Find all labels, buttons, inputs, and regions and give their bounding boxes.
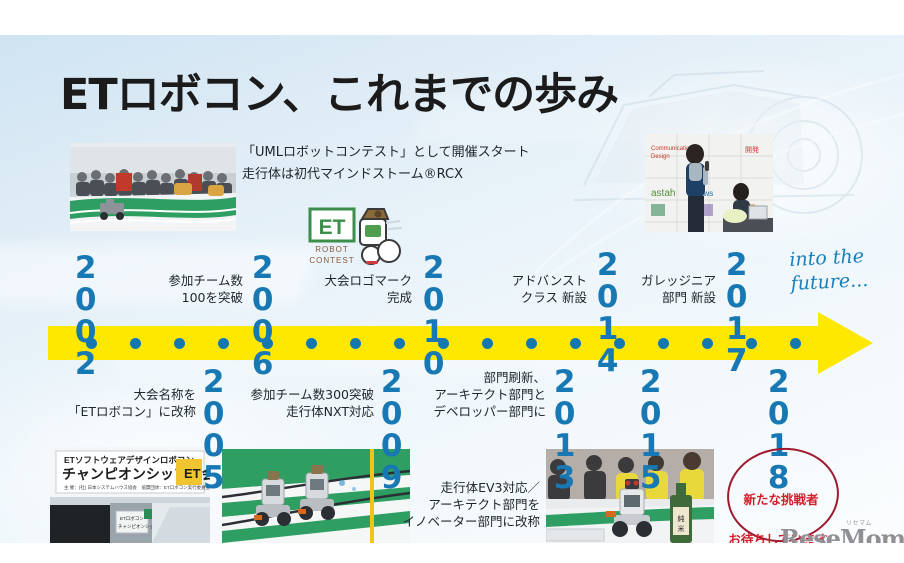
svg-text:開発: 開発 <box>745 145 759 154</box>
timeline-dot <box>306 338 317 349</box>
et-robot-contest-logo: ET ROBOT CONTEST <box>308 203 408 275</box>
svg-text:Design: Design <box>651 154 670 160</box>
photo-championship-sign: ETソフトウェアデザインロボコン チャンピオンシップ大会 主 催：(社) 日本シ… <box>50 447 210 543</box>
timeline-arrowhead <box>818 312 873 374</box>
year-label-2006: 2006 <box>249 250 276 378</box>
timeline-dot <box>218 338 229 349</box>
into-the-future-note: into the future... <box>789 244 869 296</box>
photo-2002-graphic <box>70 143 236 231</box>
year-label-2015: 2015 <box>637 364 664 492</box>
svg-text:astah: astah <box>651 188 675 199</box>
svg-text:純: 純 <box>678 514 685 523</box>
photo-championship-graphic: ETソフトウェアデザインロボコン チャンピオンシップ大会 主 催：(社) 日本シ… <box>50 447 210 543</box>
watermark-ruby: リセマム <box>846 518 872 527</box>
caption-2014: アドバンスト クラス 新設 <box>487 272 587 306</box>
year-label-2017: 2017 <box>723 247 750 375</box>
timeline-dot <box>350 338 361 349</box>
bottom-white-band <box>0 543 904 563</box>
year-label-2002: 2002 <box>72 250 99 378</box>
svg-text:CONTEST: CONTEST <box>309 256 354 265</box>
badge-line-1: 新たな挑戦者 <box>743 492 818 507</box>
photo-2017-presentation: Communication Design astah aws 開発 <box>645 134 773 232</box>
infographic-canvas: ETロボコン、これまでの歩み <box>0 0 904 563</box>
timeline-dot <box>130 338 141 349</box>
top-white-band <box>0 0 904 35</box>
svg-text:ETソフトウェアデザインロボコン: ETソフトウェアデザインロボコン <box>64 455 194 465</box>
timeline-dot <box>174 338 185 349</box>
timeline-dot <box>570 338 581 349</box>
timeline-dot <box>702 338 713 349</box>
year-label-2005: 2005 <box>200 364 227 492</box>
et-logo-graphic: ET ROBOT CONTEST <box>308 203 408 275</box>
timeline-dot <box>790 338 801 349</box>
caption-2005: 大会名称を 「ETロボコン」に改称 <box>60 386 196 420</box>
caption-2015: 走行体EV3対応／ アーキテクト部門を イノベーター部門に改称 <box>400 479 540 530</box>
timeline-dot <box>482 338 493 349</box>
intro-line-1: 「UMLロボットコンテスト」として開催スタート <box>242 143 542 163</box>
photo-2017-graphic: Communication Design astah aws 開発 <box>645 134 773 232</box>
caption-2006: 参加チーム数 100を突破 <box>128 272 243 306</box>
page-title: ETロボコン、これまでの歩み <box>60 60 618 122</box>
timeline-dot <box>526 338 537 349</box>
svg-text:ROBOT: ROBOT <box>315 245 348 254</box>
caption-2009: 参加チーム数300突破 走行体NXT対応 <box>232 386 374 420</box>
timeline-dot <box>658 338 669 349</box>
photo-2002-contest <box>70 143 236 231</box>
svg-text:ETロボコン: ETロボコン <box>120 515 144 521</box>
year-label-2009: 2009 <box>378 364 405 492</box>
svg-text:ET: ET <box>319 216 346 239</box>
svg-text:主 催：(社) 日本システムハウス協会 協賛団体：ETロボコ: 主 催：(社) 日本システムハウス協会 協賛団体：ETロボコン実行委員会 <box>64 484 210 491</box>
caption-2017: ガレッジニア 部門 新設 <box>620 272 716 306</box>
timeline-dot <box>394 338 405 349</box>
year-label-2010: 2010 <box>420 250 447 378</box>
year-label-2014: 2014 <box>594 247 621 375</box>
svg-text:米: 米 <box>678 524 685 533</box>
caption-2010: 大会ロゴマーク 完成 <box>300 272 412 306</box>
timeline-arrow <box>48 326 893 360</box>
year-label-2013: 2013 <box>551 364 578 492</box>
intro-line-2: 走行体は初代マインドストーム®RCX <box>242 165 542 185</box>
